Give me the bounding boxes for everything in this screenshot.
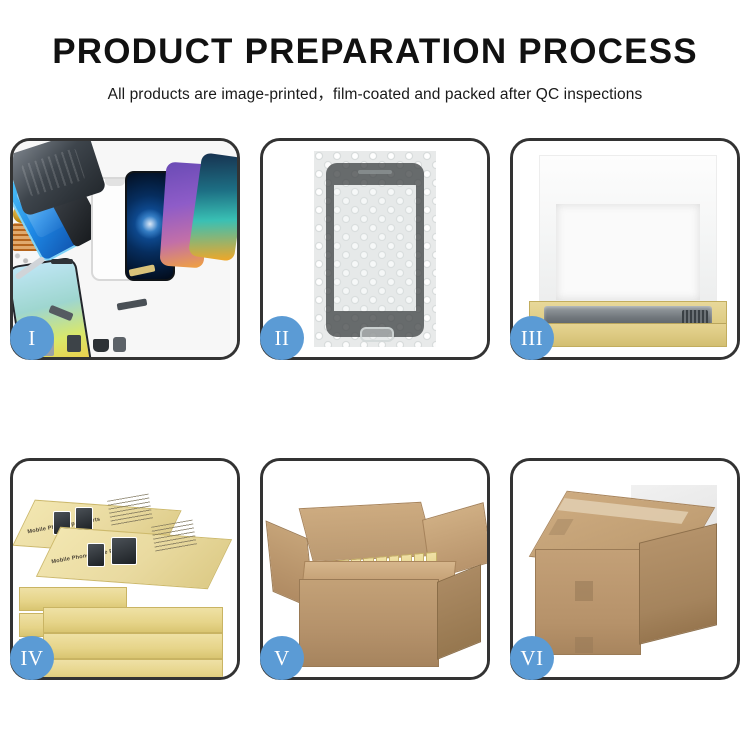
bubble-wrap-sheet bbox=[314, 151, 436, 347]
box-product-thumb bbox=[111, 537, 137, 565]
page-subtitle: All products are image-printed，film-coat… bbox=[0, 82, 750, 104]
steps-grid: I II bbox=[10, 138, 740, 680]
retail-box-slab bbox=[43, 607, 223, 633]
speaker-part bbox=[93, 339, 109, 352]
step-card-3: III bbox=[510, 138, 740, 360]
step-card-4: Mobile Phone Spare Parts Mobile Phone Sp… bbox=[10, 458, 240, 680]
flex-cable-part-1 bbox=[51, 259, 73, 264]
battery-part bbox=[67, 335, 81, 352]
screen-glass-bezel bbox=[326, 163, 424, 337]
step-card-1: I bbox=[10, 138, 240, 360]
camera-module-part bbox=[113, 337, 126, 352]
sealed-carton-side bbox=[639, 523, 717, 644]
kraft-box-front-wall bbox=[530, 323, 726, 346]
box-product-thumb bbox=[87, 543, 105, 567]
carton-front-wall bbox=[299, 579, 439, 667]
home-button-cutout bbox=[360, 327, 394, 342]
step-badge-4: IV bbox=[10, 636, 54, 680]
step-badge-5: V bbox=[260, 636, 304, 680]
step-card-5: V bbox=[260, 458, 490, 680]
earpiece-slot bbox=[358, 170, 392, 174]
retail-box-slab bbox=[43, 633, 223, 659]
carton-side-wall bbox=[437, 564, 481, 660]
flex-cable-part-4 bbox=[117, 298, 148, 310]
carton-seam-lower bbox=[575, 637, 593, 653]
step-badge-2: II bbox=[260, 316, 304, 360]
step-card-2: II bbox=[260, 138, 490, 360]
foam-padding-lid bbox=[539, 155, 717, 309]
foam-inner-surface bbox=[556, 204, 700, 300]
step-badge-6: VI bbox=[510, 636, 554, 680]
carton-seam-upper bbox=[575, 581, 593, 601]
step-badge-1: I bbox=[10, 316, 54, 360]
header: PRODUCT PREPARATION PROCESS All products… bbox=[0, 0, 750, 104]
page-title: PRODUCT PREPARATION PROCESS bbox=[0, 34, 750, 69]
product-preparation-infographic: PRODUCT PREPARATION PROCESS All products… bbox=[0, 0, 750, 750]
kraft-box-tray bbox=[529, 301, 727, 347]
step-card-6: VI bbox=[510, 458, 740, 680]
step-badge-3: III bbox=[510, 316, 554, 360]
retail-box-slab bbox=[43, 659, 223, 677]
